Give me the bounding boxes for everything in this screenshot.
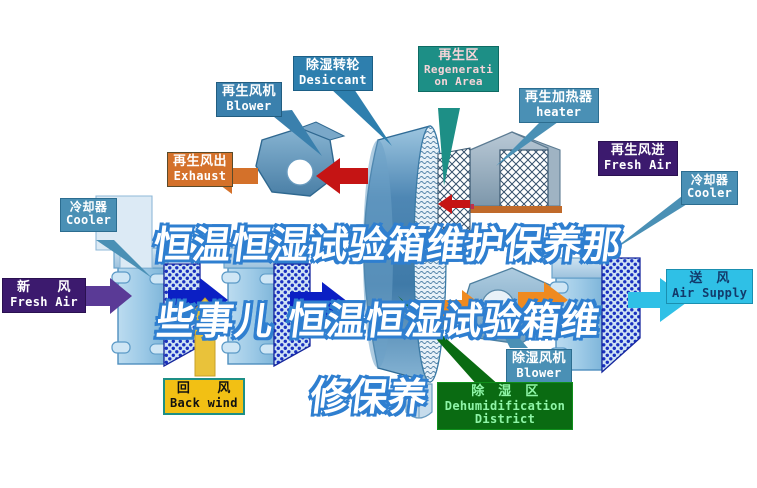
label-regen-heater-en: heater	[525, 106, 593, 119]
label-back-wind-en: Back wind	[170, 397, 238, 410]
label-exhaust-cn: 再生风出	[173, 155, 227, 170]
label-cooler-left-en: Cooler	[66, 214, 111, 227]
desiccant-rotor: xf	[363, 126, 446, 382]
label-air-supply-en: Air Supply	[672, 287, 747, 300]
label-desiccant-en: Desiccant	[299, 74, 367, 87]
label-cooler-right-en: Cooler	[687, 187, 732, 200]
label-back-wind: 回 风 Back wind	[163, 378, 245, 415]
label-dehum-blower-cn: 除湿风机	[512, 352, 566, 367]
label-dehumidification-district-en2: District	[443, 413, 567, 426]
label-cooler-left: 冷却器 Cooler	[60, 198, 117, 232]
svg-text:xf: xf	[396, 305, 409, 320]
label-fresh-air-en: Fresh Air	[8, 296, 80, 309]
label-air-supply-cn: 送 风	[672, 272, 747, 287]
label-dehumidification-district-en1: Dehumidification	[443, 400, 567, 413]
label-dehum-blower-en: Blower	[512, 367, 566, 380]
label-regen-blower: 再生风机 Blower	[216, 82, 282, 117]
label-regen-blower-cn: 再生风机	[222, 85, 276, 100]
machinery-illustration: xf	[0, 0, 757, 488]
label-cooler-right-cn: 冷却器	[687, 174, 732, 187]
label-air-supply: 送 风 Air Supply	[666, 269, 753, 304]
cooler-coil-right	[222, 248, 278, 364]
label-fresh-air: 新 风 Fresh Air	[2, 278, 86, 313]
label-regen-fresh-air: 再生风进 Fresh Air	[598, 141, 678, 176]
label-regen-heater-cn: 再生加热器	[525, 91, 593, 106]
label-back-wind-cn: 回 风	[170, 382, 238, 397]
label-regen-fresh-air-cn: 再生风进	[604, 144, 672, 159]
label-dehumidification-district-cn: 除 湿 区	[443, 385, 567, 400]
label-regeneration-area-cn: 再生区	[424, 49, 493, 64]
label-dehum-blower: 除湿风机 Blower	[506, 349, 572, 384]
filter-mesh-right	[274, 264, 310, 366]
label-regeneration-area-en2: on Area	[424, 76, 493, 88]
label-dehumidification-district: 除 湿 区 Dehumidification District	[437, 382, 573, 430]
condensate-tray	[406, 384, 432, 418]
label-cooler-left-cn: 冷却器	[66, 201, 111, 214]
label-regen-blower-en: Blower	[222, 100, 276, 113]
label-cooler-right: 冷却器 Cooler	[681, 171, 738, 205]
label-exhaust: 再生风出 Exhaust	[167, 152, 233, 187]
label-regen-fresh-air-en: Fresh Air	[604, 159, 672, 172]
diagram-canvas: xf	[0, 0, 757, 488]
label-regen-heater: 再生加热器 heater	[519, 88, 599, 123]
label-desiccant-cn: 除湿转轮	[299, 59, 367, 74]
label-desiccant: 除湿转轮 Desiccant	[293, 56, 373, 91]
label-regeneration-area-en1: Regenerati	[424, 64, 493, 76]
regen-mesh-column	[438, 148, 470, 236]
label-fresh-air-cn: 新 风	[8, 281, 80, 296]
label-regeneration-area: 再生区 Regenerati on Area	[418, 46, 499, 92]
label-exhaust-en: Exhaust	[173, 170, 227, 183]
